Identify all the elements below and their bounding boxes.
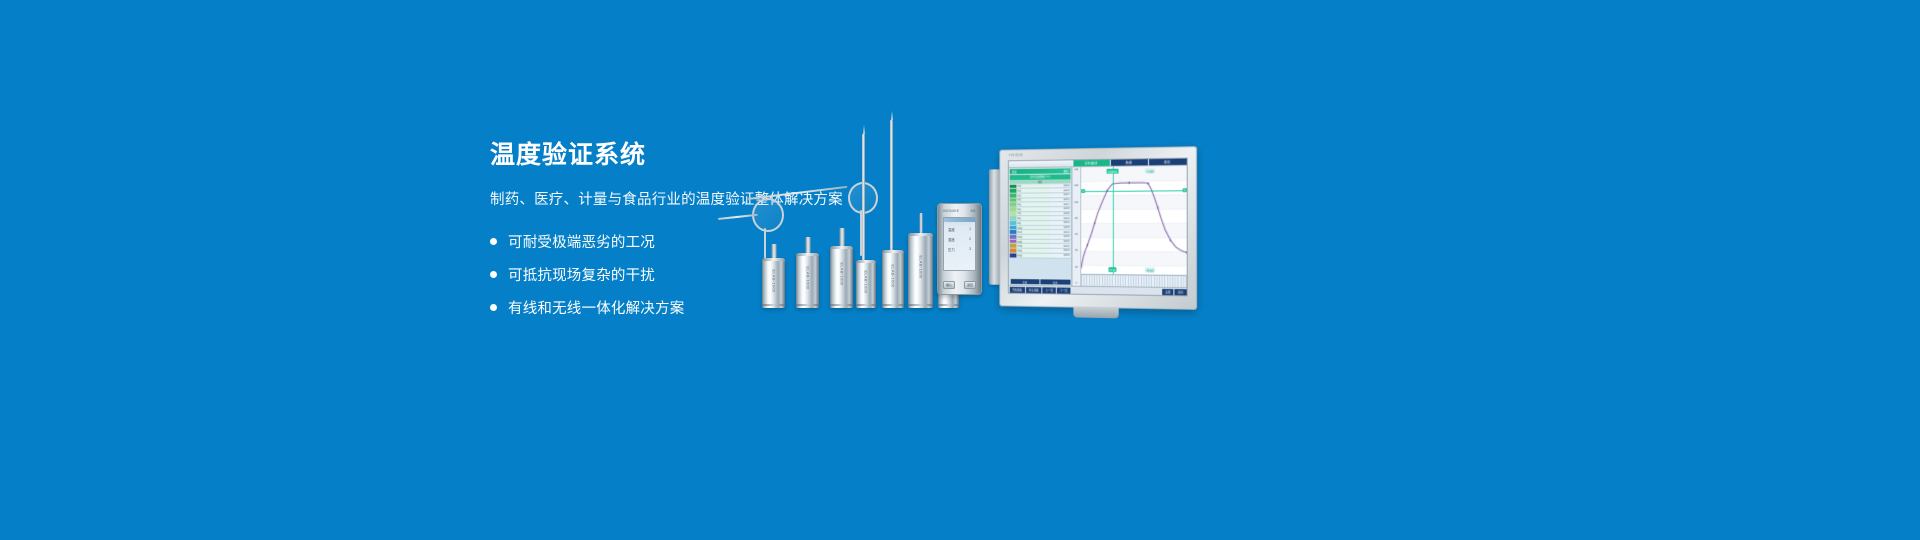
bullet-dot-icon — [490, 304, 497, 311]
lcd-titlebar — [944, 218, 975, 222]
feature-label: 可耐受极端恶劣的工况 — [508, 231, 655, 252]
chart-area[interactable]: 140 120 100 80 60 40 20 0 — [1072, 166, 1186, 287]
logger-probe: ELAB-1000 — [856, 260, 876, 308]
y-tick: 120 — [1074, 184, 1078, 187]
settings-button[interactable]: 设置 — [1162, 288, 1173, 294]
channel-name: 16号 — [1016, 253, 1050, 257]
series-color-swatch — [1010, 226, 1017, 230]
channel-value: 121.5 — [1050, 207, 1070, 211]
tab-report[interactable]: 报表 — [1148, 159, 1186, 166]
logger-probe: ELAB-1000 — [908, 233, 933, 308]
y-tick: 100 — [1074, 201, 1078, 204]
monitor-brand: INON — [1009, 152, 1024, 157]
channel-panel-footer[interactable]: 全选 反选 — [1010, 279, 1071, 285]
lcd-row-value: 3 — [969, 247, 971, 252]
channel-name: 12号 — [1016, 235, 1050, 239]
channel-name: 4号 — [1016, 198, 1050, 202]
stop-acquisition-button[interactable]: 停止采集 — [1026, 287, 1042, 293]
needle-probe — [862, 134, 865, 262]
logger-label: ELAB-1000 — [891, 265, 896, 288]
series-color-swatch — [1010, 235, 1017, 239]
logger-probe: ELAB-1000 — [882, 250, 904, 308]
handheld-reader[interactable]: INONIKE M1 温度 1 湿度 2 压力 3 确认 — [937, 203, 982, 295]
feature-label: 有线和无线一体化解决方案 — [508, 297, 684, 318]
panel-monitor[interactable]: INON 实时曲线 数据 报表 通道 数值 — [999, 146, 1197, 310]
series-color-swatch — [1010, 240, 1017, 244]
series-color-swatch — [1010, 244, 1017, 248]
y-tick: 40 — [1075, 249, 1078, 252]
channel-value: 121.7 — [1050, 193, 1070, 197]
lcd-row-value: 1 — [969, 227, 971, 232]
channel-value: 121.4 — [1050, 184, 1070, 188]
channel-name: 3号 — [1016, 193, 1050, 197]
logger-label: ELAB-1000 — [771, 269, 776, 292]
series-color-swatch — [1010, 230, 1017, 234]
channel-value: 121.6 — [1050, 240, 1070, 244]
handheld-model: M1 — [971, 209, 976, 213]
channel-name: 6号 — [1016, 207, 1050, 211]
lcd-row-name: 压力 — [948, 247, 955, 252]
channel-name: 13号 — [1016, 240, 1050, 244]
start-acquisition-button[interactable]: 开始采集 — [1009, 286, 1025, 292]
series-color-swatch — [1010, 189, 1017, 193]
software-body: 通道 数值 实时温度数据 (℃) 温度 1号121.4 2号121.3 3号12… — [1009, 166, 1187, 287]
channel-value: 121.3 — [1050, 249, 1070, 253]
channel-value: 121.3 — [1050, 188, 1070, 192]
phase-b-label: 降温段 — [1145, 267, 1155, 272]
channel-value: 121.4 — [1050, 230, 1070, 234]
handheld-key-confirm[interactable]: 确认 — [943, 281, 955, 289]
table-row[interactable]: 16号121.5 — [1010, 253, 1071, 258]
bullet-dot-icon — [490, 271, 497, 278]
channel-value: 121.4 — [1050, 221, 1070, 225]
bullet-dot-icon — [490, 238, 497, 245]
logger-probe: ELAB-1000 — [762, 258, 785, 308]
series-color-swatch — [1010, 194, 1017, 198]
channel-value: 121.1 — [1050, 198, 1070, 202]
handheld-lcd: 温度 1 湿度 2 压力 3 — [943, 217, 976, 271]
series-color-swatch — [1010, 184, 1017, 188]
channel-value: 121.5 — [1050, 254, 1070, 258]
lcd-row: 温度 1 — [944, 227, 975, 232]
monitor-screen[interactable]: 实时曲线 数据 报表 通道 数值 实时温度数据 (℃) 温度 — [1008, 158, 1188, 297]
channel-name: 15号 — [1016, 249, 1050, 253]
hero-banner: 温度验证系统 制药、医疗、计量与食品行业的温度验证整体解决方案 可耐受极端恶劣的… — [0, 0, 1920, 540]
logger-probe: ELAB-1000 — [796, 253, 819, 308]
chart-cursor[interactable] — [1112, 167, 1113, 286]
limit-marker-right[interactable]: S — [1183, 188, 1187, 192]
next-page-button[interactable]: 下一页 — [1057, 287, 1070, 293]
channel-name: 1号 — [1016, 184, 1050, 188]
channel-name: 5号 — [1016, 203, 1050, 207]
handheld-keypad[interactable]: 确认 返回 — [943, 281, 976, 289]
y-tick: 60 — [1075, 233, 1078, 236]
channel-name: 8号 — [1016, 216, 1050, 220]
logger-probe: ELAB-1000 — [830, 246, 853, 308]
y-tick: 20 — [1075, 266, 1078, 269]
monitor-bezel: INON 实时曲线 数据 报表 通道 数值 — [999, 146, 1197, 310]
channel-name: 7号 — [1016, 212, 1050, 216]
series-color-swatch — [1010, 249, 1017, 253]
lcd-row: 湿度 2 — [944, 237, 975, 242]
series-color-swatch — [1010, 198, 1017, 202]
logger-label: ELAB-1000 — [864, 270, 869, 293]
tab-realtime-curve[interactable]: 实时曲线 — [1073, 160, 1109, 167]
prev-page-button[interactable]: 上一页 — [1043, 287, 1056, 293]
logger-label: ELAB-1000 — [918, 255, 923, 278]
channel-value: 121.6 — [1050, 212, 1070, 216]
monitor-stand — [1073, 307, 1118, 319]
series-color-swatch — [1010, 203, 1017, 207]
cursor-top-label: 灭菌阶段 — [1106, 169, 1119, 174]
tab-data[interactable]: 数据 — [1110, 159, 1147, 166]
lcd-row-value: 2 — [969, 237, 971, 242]
channel-value: 121.2 — [1050, 244, 1070, 248]
handheld-brand-row: INONIKE M1 — [943, 209, 976, 213]
cursor-bottom-label: F0 值 — [1108, 267, 1117, 272]
series-color-swatch — [1010, 212, 1017, 216]
channel-value: 121.7 — [1050, 202, 1070, 206]
temperature-curve — [1081, 166, 1186, 287]
chart-y-axis: 140 120 100 80 60 40 20 0 — [1072, 167, 1081, 286]
logger-label: ELAB-1000 — [805, 266, 810, 289]
y-tick: 80 — [1075, 217, 1078, 220]
exit-button[interactable]: 退出 — [1175, 289, 1186, 295]
logger-label: ELAB-1000 — [839, 262, 844, 285]
select-all-button[interactable]: 全选 — [1010, 279, 1039, 284]
chart-x-axis — [1081, 274, 1186, 287]
phase-a-label: 升温段 — [1145, 168, 1155, 173]
limit-line — [1081, 190, 1186, 192]
handheld-key-back[interactable]: 返回 — [964, 281, 976, 289]
series-color-swatch — [1010, 207, 1017, 211]
channel-name: 2号 — [1016, 189, 1050, 193]
needle-probe — [890, 120, 893, 262]
value-col-header: 数值 — [1063, 169, 1068, 173]
channel-value: 121.2 — [1050, 216, 1070, 220]
channel-rows[interactable]: 1号121.4 2号121.3 3号121.7 4号121.1 5号121.7 … — [1010, 184, 1071, 279]
product-photo: ELAB-1000 ELAB-1000 ELAB-1000 ELAB-1000 … — [700, 120, 1260, 330]
y-tick: 140 — [1074, 168, 1078, 171]
chart-plot[interactable]: S S 灭菌阶段 F0 值 升温段 降温段 — [1081, 166, 1186, 287]
series-color-swatch — [1010, 217, 1017, 221]
channel-name: 11号 — [1016, 230, 1050, 234]
toolbar-spacer — [1071, 287, 1161, 294]
channel-col-header: 通道 — [1012, 170, 1017, 174]
handheld-brand: INONIKE — [943, 209, 959, 213]
channel-name: 14号 — [1016, 244, 1050, 248]
feature-label: 可抵抗现场复杂的干扰 — [508, 264, 655, 285]
lcd-row: 压力 3 — [944, 247, 975, 252]
channel-name: 9号 — [1016, 221, 1050, 225]
channel-panel[interactable]: 通道 数值 实时温度数据 (℃) 温度 1号121.4 2号121.3 3号12… — [1009, 167, 1073, 285]
tabbar-spacer — [1009, 160, 1073, 167]
channel-name: 10号 — [1016, 226, 1050, 230]
software-tabbar[interactable]: 实时曲线 数据 报表 — [1009, 159, 1187, 169]
y-tick: 0 — [1076, 282, 1077, 285]
lcd-row-name: 湿度 — [948, 237, 955, 242]
invert-selection-button[interactable]: 反选 — [1040, 279, 1070, 284]
series-color-swatch — [1010, 221, 1017, 225]
lcd-row-name: 温度 — [948, 227, 955, 232]
channel-value: 121.5 — [1050, 226, 1070, 230]
channel-value: 121.5 — [1050, 235, 1070, 239]
software-toolbar[interactable]: 开始采集 停止采集 上一页 下一页 设置 退出 — [1009, 285, 1187, 295]
series-color-swatch — [1010, 253, 1017, 257]
